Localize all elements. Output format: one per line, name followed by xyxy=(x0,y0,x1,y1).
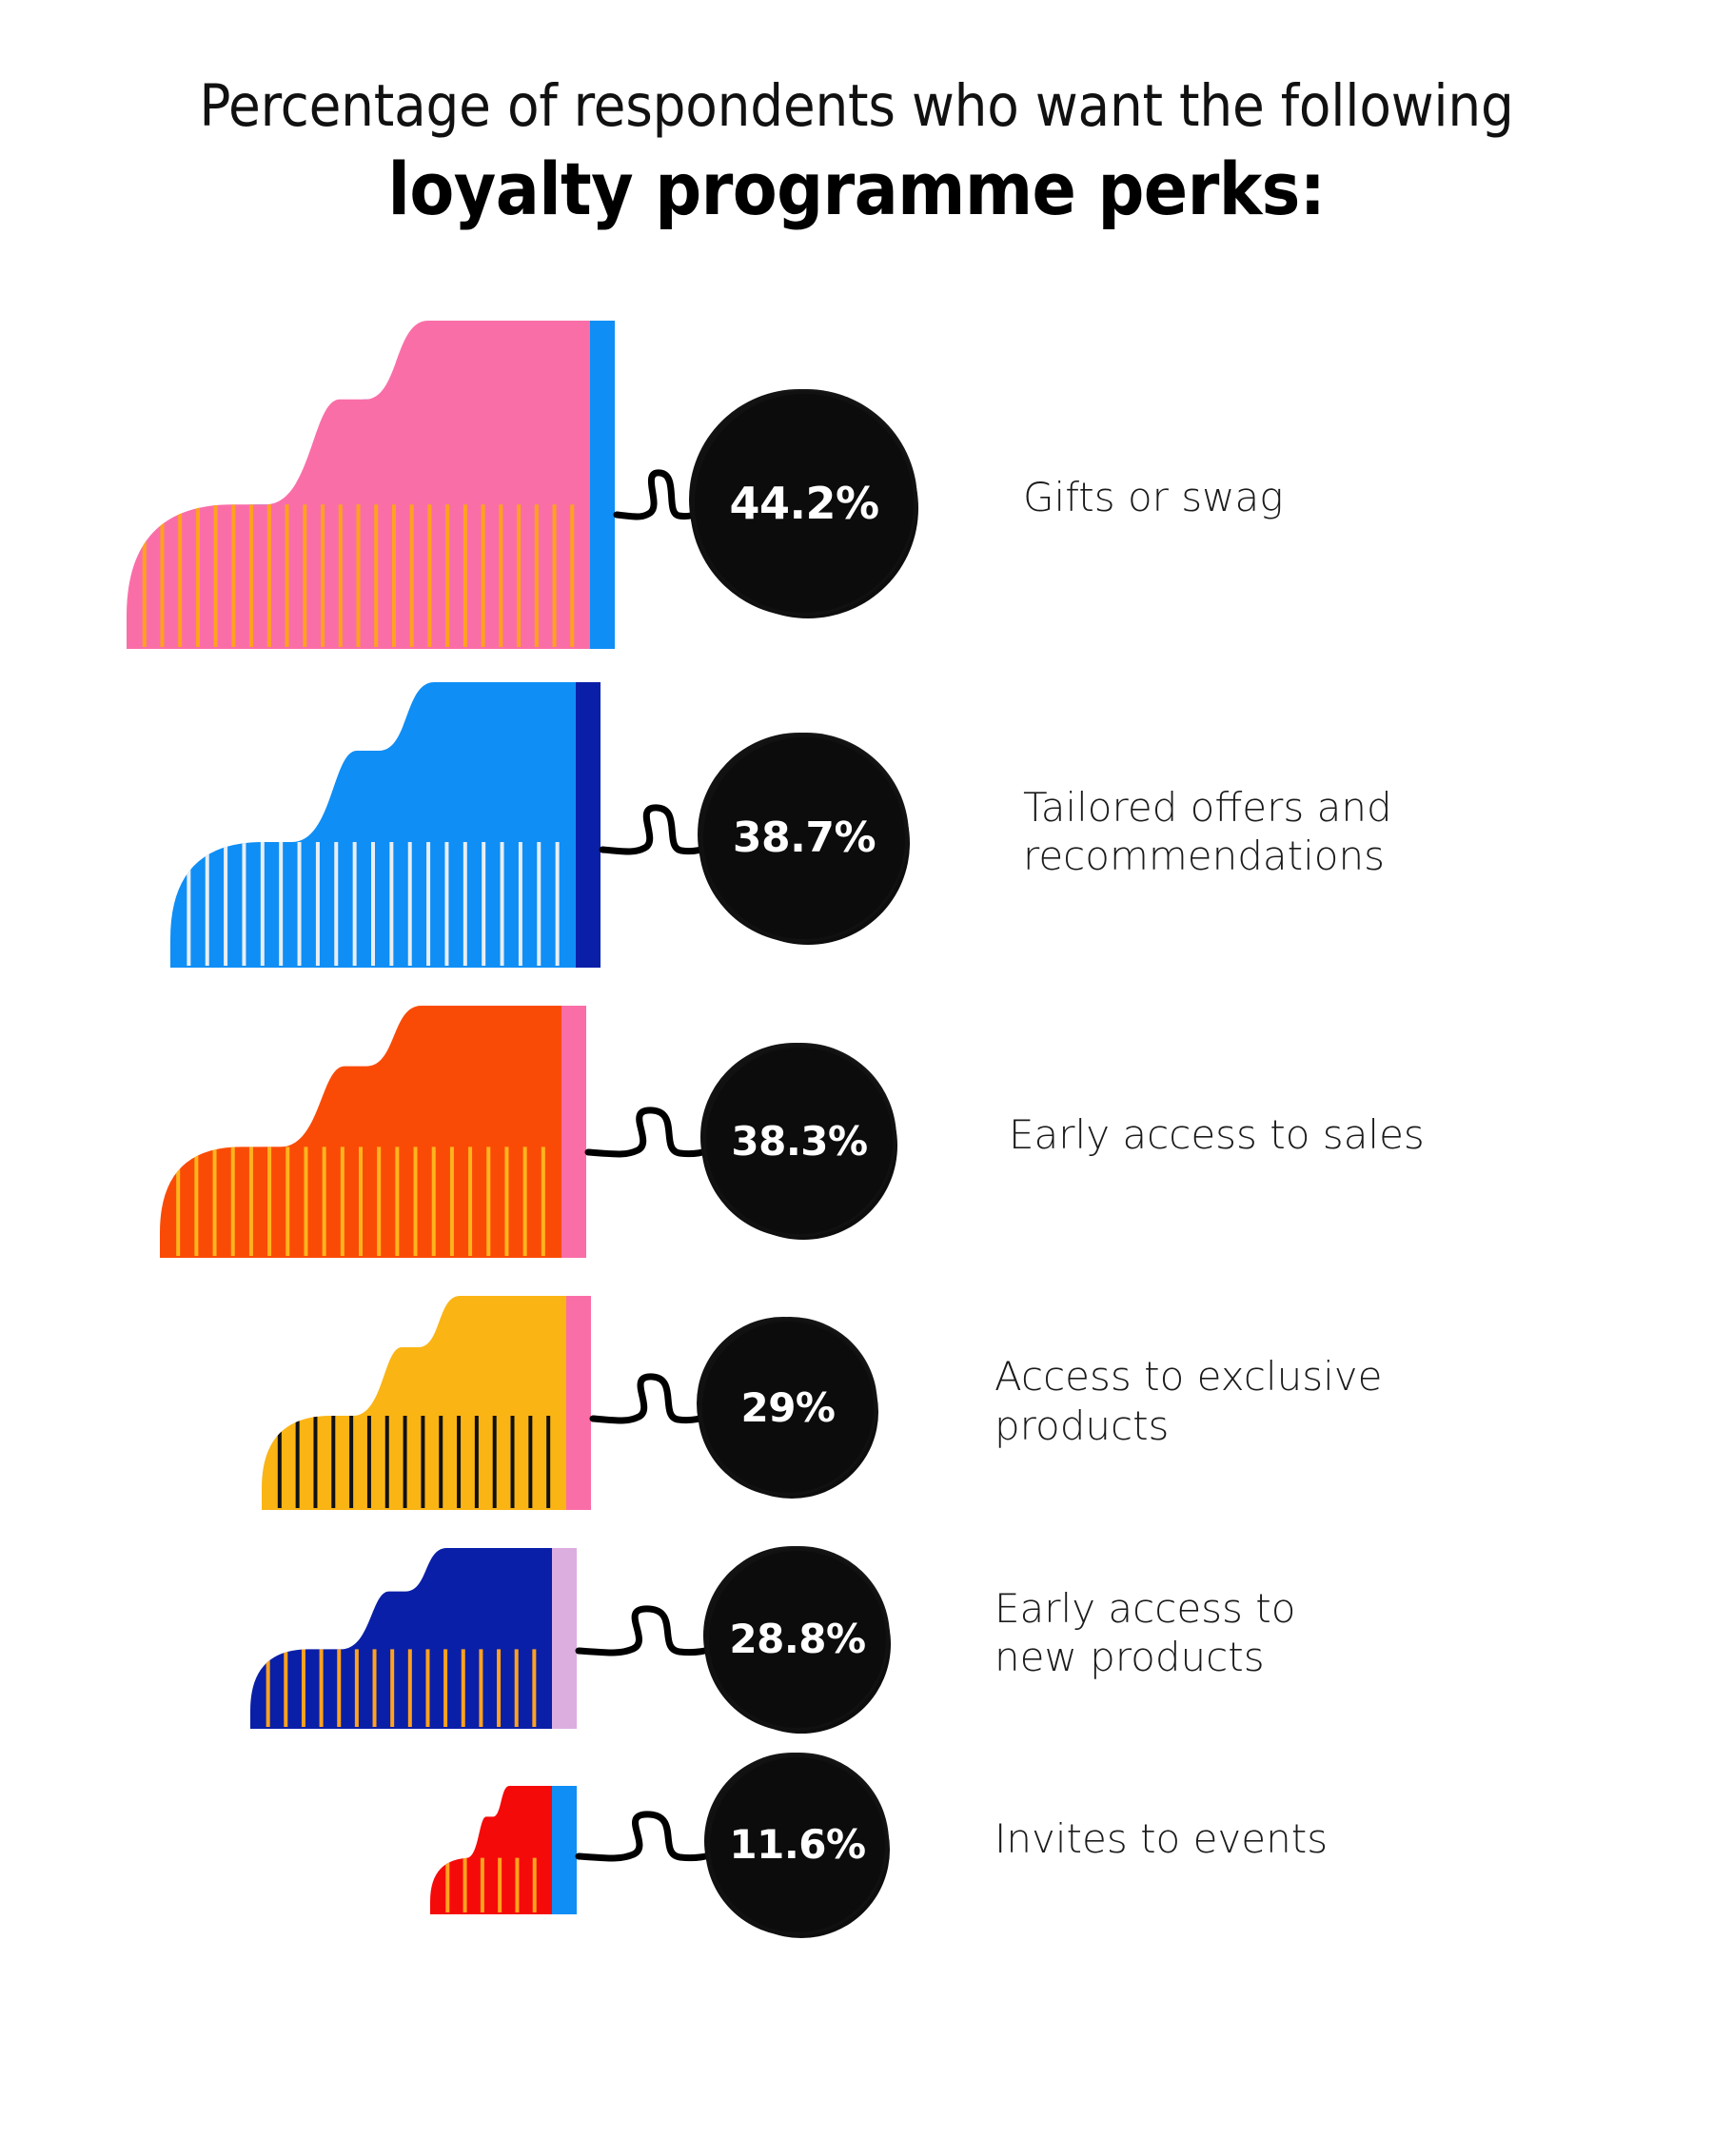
chart-row: 28.8%Early access to new products xyxy=(0,1523,1713,1742)
category-label: Early access to new products xyxy=(994,1584,1295,1681)
badge-value: 38.3% xyxy=(731,1118,867,1165)
category-label: Early access to sales xyxy=(1009,1110,1425,1159)
bar-shape xyxy=(262,1271,591,1523)
infographic-header: Percentage of respondents who want the f… xyxy=(0,0,1713,234)
bar-shape xyxy=(160,981,586,1271)
chart-row: 11.6%Invites to events xyxy=(0,1761,1713,1928)
connector-line xyxy=(588,1101,712,1175)
bar-chart: 44.2%Gifts or swag 38.7%Tailored offers … xyxy=(0,282,1713,2089)
chart-row: 29%Access to exclusive products xyxy=(0,1271,1713,1523)
badge-value: 38.7% xyxy=(733,813,876,862)
percentage-badge: 38.7% xyxy=(703,737,905,939)
bar-shape xyxy=(430,1761,577,1928)
connector-line xyxy=(593,1367,708,1441)
title-subline: Percentage of respondents who want the f… xyxy=(0,74,1713,138)
page-title: loyalty programme perks: xyxy=(0,146,1713,234)
chart-row: 38.3%Early access to sales xyxy=(0,981,1713,1271)
percentage-badge: 29% xyxy=(702,1322,874,1493)
chart-row: 44.2%Gifts or swag xyxy=(0,296,1713,662)
category-label: Access to exclusive products xyxy=(994,1352,1383,1449)
category-label: Invites to events xyxy=(994,1814,1328,1863)
percentage-badge: 38.3% xyxy=(706,1048,893,1234)
connector-line xyxy=(617,463,700,538)
chart-row: 38.7%Tailored offers and recommendations xyxy=(0,657,1713,981)
badge-value: 29% xyxy=(740,1384,835,1431)
connector-line xyxy=(579,1599,715,1674)
percentage-badge: 44.2% xyxy=(695,394,914,613)
bar-shape xyxy=(250,1523,577,1742)
category-label: Gifts or swag xyxy=(1023,473,1283,521)
badge-value: 28.8% xyxy=(729,1616,865,1662)
bar-shape xyxy=(170,657,601,981)
badge-value: 44.2% xyxy=(729,478,878,529)
percentage-badge: 11.6% xyxy=(710,1757,885,1932)
badge-value: 11.6% xyxy=(729,1821,865,1868)
category-label: Tailored offers and recommendations xyxy=(1023,783,1392,880)
connector-line xyxy=(579,1805,716,1879)
percentage-badge: 28.8% xyxy=(709,1551,886,1728)
connector-line xyxy=(602,798,709,872)
bar-shape xyxy=(127,296,615,662)
